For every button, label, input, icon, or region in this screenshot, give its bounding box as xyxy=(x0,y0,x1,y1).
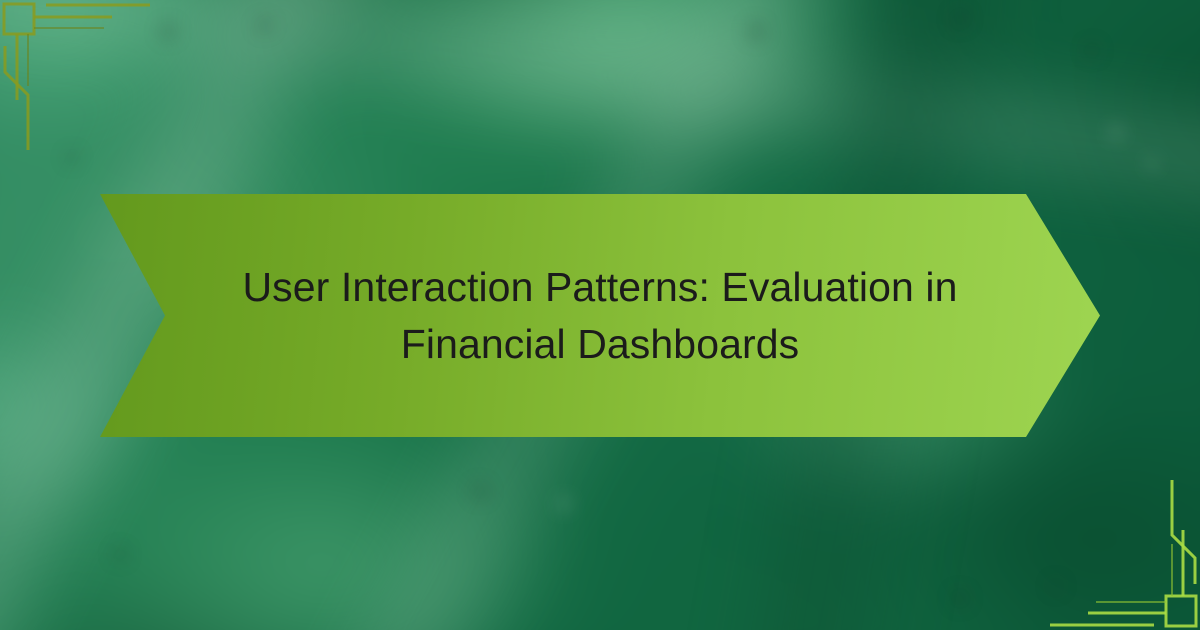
page-title-line-2: Financial Dashboards xyxy=(401,316,800,373)
title-banner: User Interaction Patterns: Evaluation in… xyxy=(100,194,1100,437)
page-title-line-1: User Interaction Patterns: Evaluation in xyxy=(242,259,957,316)
banner-title-block: User Interaction Patterns: Evaluation in… xyxy=(212,194,988,437)
title-card-canvas: User Interaction Patterns: Evaluation in… xyxy=(0,0,1200,630)
